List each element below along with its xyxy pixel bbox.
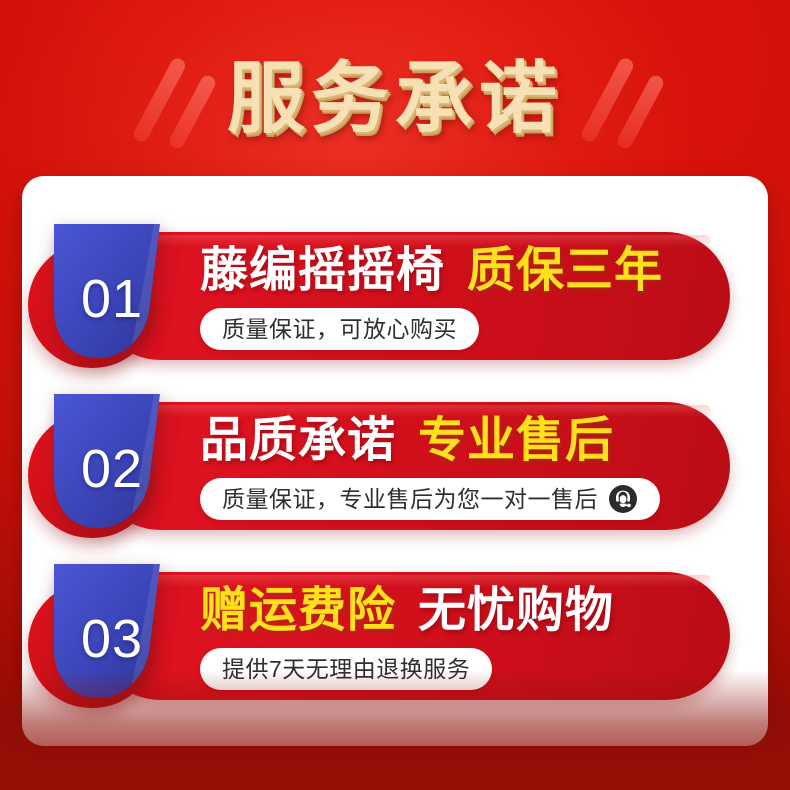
subtitle-pill-row-3: 提供7天无理由退换服务 xyxy=(200,648,492,690)
headline-row-3: 赠运费险 无忧购物 xyxy=(200,580,614,642)
subtitle-text: 质量保证，专业售后为您一对一售后 xyxy=(222,488,598,511)
badge-number-02: 02 xyxy=(54,394,184,544)
promise-row-1: 01 藤编摇摇椅 质保三年 质量保证，可放心购买 xyxy=(22,224,768,389)
headline-accent: 专业售后 xyxy=(418,417,614,465)
headline-accent: 质保三年 xyxy=(467,247,663,295)
headline-primary: 品质承诺 xyxy=(200,417,396,465)
subtitle-pill-row-2: 质量保证，专业售后为您一对一售后 xyxy=(200,478,660,520)
title-area: 服务承诺 xyxy=(0,38,790,158)
subtitle-text: 提供7天无理由退换服务 xyxy=(222,658,470,681)
promise-row-3: 03 赠运费险 无忧购物 提供7天无理由退换服务 xyxy=(22,564,768,729)
customer-service-headset-icon xyxy=(608,484,638,514)
page-title: 服务承诺 xyxy=(0,59,790,137)
promise-row-2: 02 品质承诺 专业售后 质量保证，专业售后为您一对一售后 xyxy=(22,394,768,559)
headline-primary: 藤编摇摇椅 xyxy=(200,247,445,295)
badge-number-03: 03 xyxy=(54,564,184,714)
headline-primary: 赠运费险 xyxy=(200,587,396,635)
headline-row-1: 藤编摇摇椅 质保三年 xyxy=(200,240,663,302)
headline-accent: 无忧购物 xyxy=(418,587,614,635)
headline-row-2: 品质承诺 专业售后 xyxy=(200,410,614,472)
subtitle-text: 质量保证，可放心购买 xyxy=(222,318,457,341)
subtitle-pill-row-1: 质量保证，可放心购买 xyxy=(200,308,479,350)
service-promise-poster: 服务承诺 01 xyxy=(0,0,790,790)
badge-number-01: 01 xyxy=(54,224,184,374)
promise-card: 01 藤编摇摇椅 质保三年 质量保证，可放心购买 xyxy=(22,176,768,746)
